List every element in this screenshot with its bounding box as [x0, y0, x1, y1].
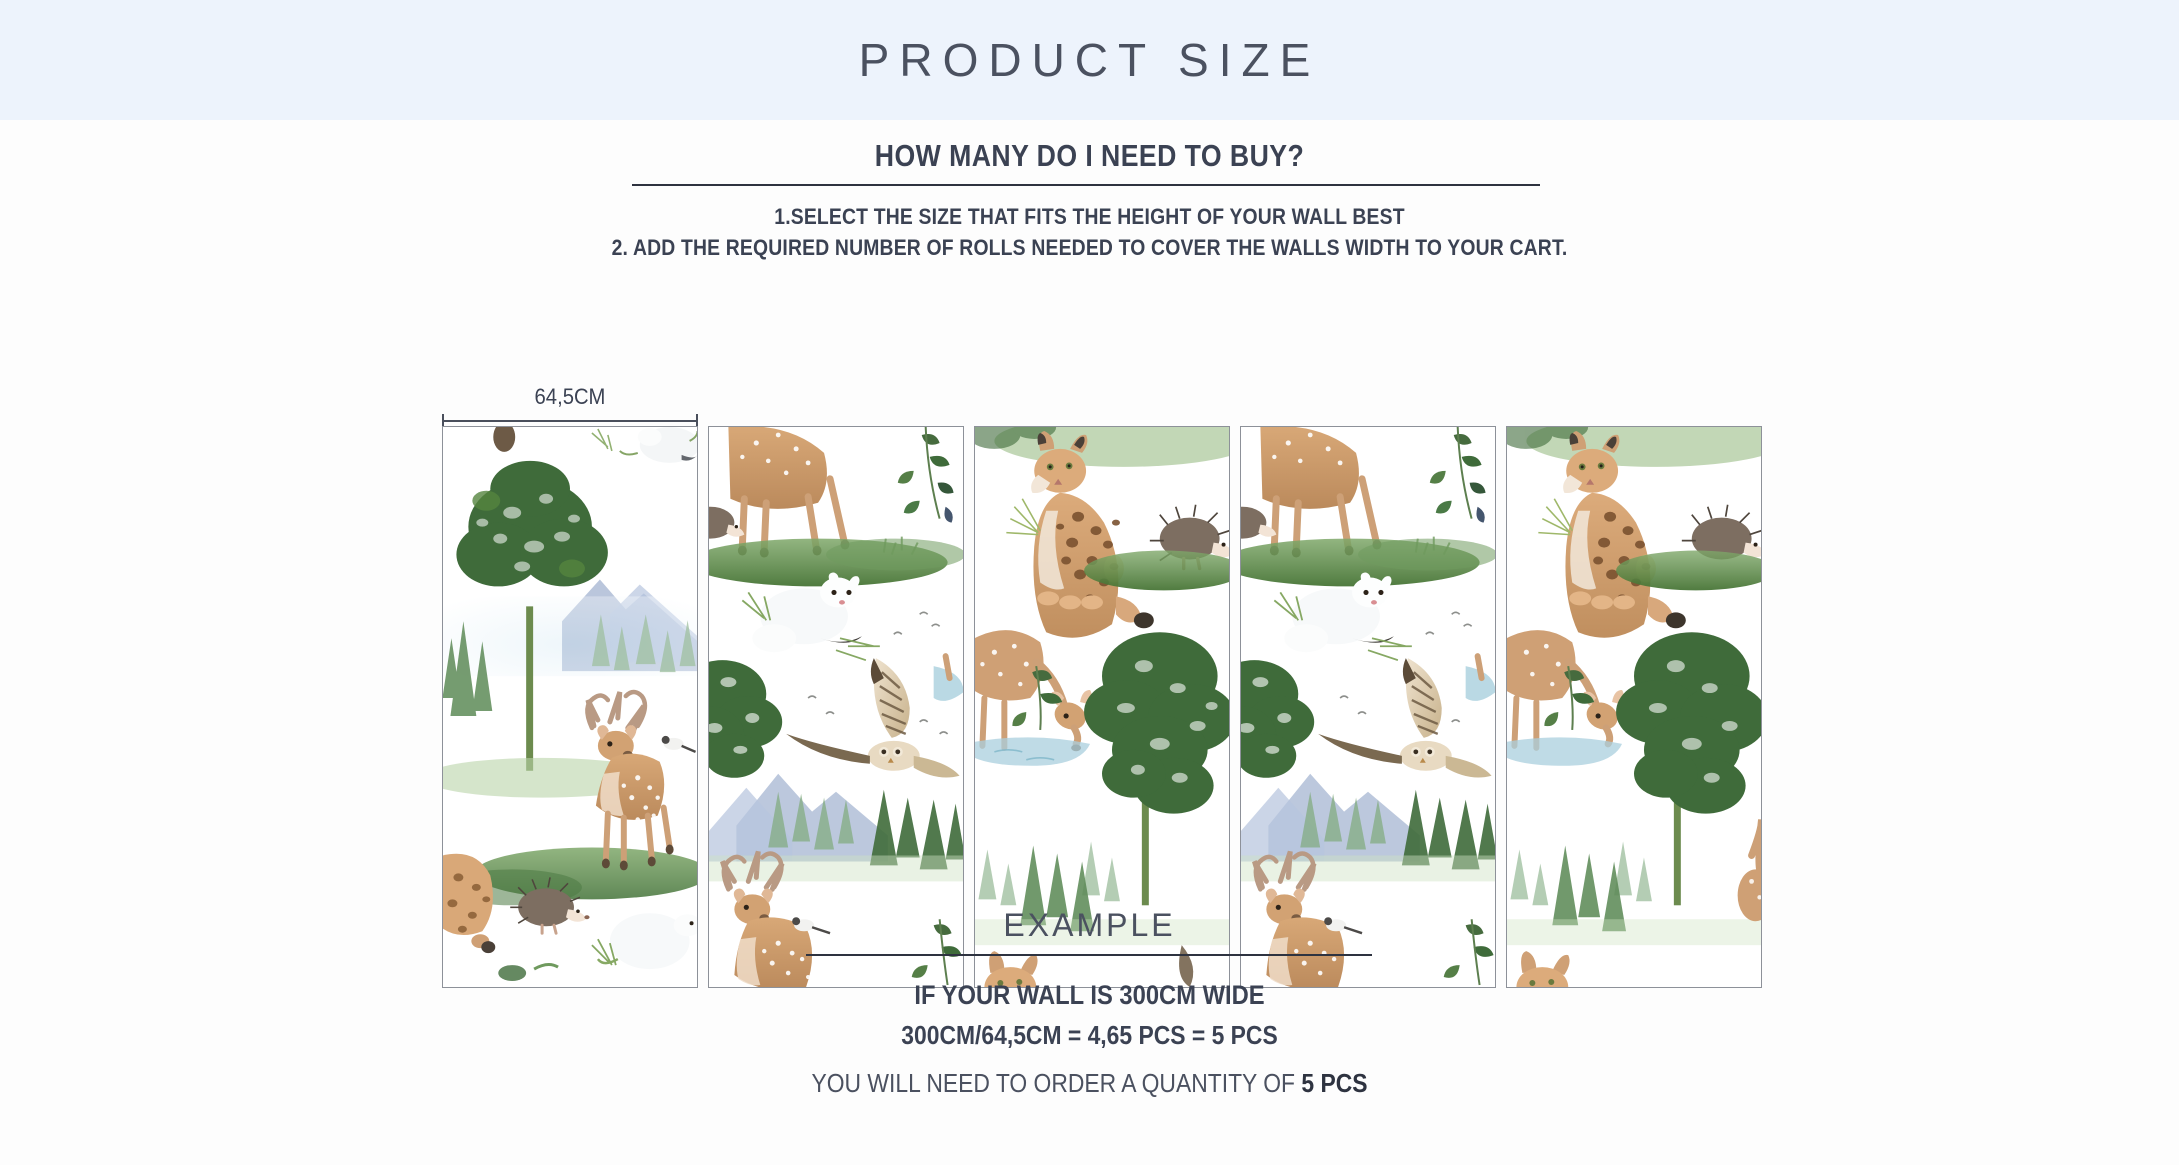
roll-panel-3[interactable]	[974, 426, 1230, 988]
woodland-pattern-b	[709, 427, 963, 987]
example-line-3-prefix: YOU WILL NEED TO ORDER A QUANTITY OF	[811, 1068, 1301, 1098]
instruction-step-2: 2. ADD THE REQUIRED NUMBER OF ROLLS NEED…	[131, 235, 2049, 261]
woodland-pattern-a	[443, 427, 697, 987]
heading-divider	[632, 184, 1540, 186]
page-title: PRODUCT SIZE	[859, 33, 1321, 87]
page-header: PRODUCT SIZE	[0, 0, 2179, 120]
example-line-1: IF YOUR WALL IS 300CM WIDE	[131, 980, 2049, 1011]
woodland-pattern-c-repeat	[1507, 427, 1761, 987]
dimension-line	[442, 420, 698, 422]
roll-panel-1[interactable]	[442, 426, 698, 988]
dimension-bracket	[442, 414, 698, 426]
instruction-step-1: 1.SELECT THE SIZE THAT FITS THE HEIGHT O…	[131, 204, 2049, 230]
woodland-pattern-b-repeat	[1241, 427, 1495, 987]
example-quantity-value: 5 PCS	[1301, 1068, 1367, 1098]
content-area: HOW MANY DO I NEED TO BUY? 1.SELECT THE …	[0, 120, 2179, 1165]
example-line-3: YOU WILL NEED TO ORDER A QUANTITY OF 5 P…	[131, 1068, 2049, 1099]
dimension-label: 64,5CM	[452, 384, 688, 410]
woodland-pattern-c	[975, 427, 1229, 987]
wallpaper-roll-group	[442, 426, 1762, 988]
roll-panel-4[interactable]	[1240, 426, 1496, 988]
example-divider	[806, 954, 1372, 956]
section-subheading: HOW MANY DO I NEED TO BUY?	[153, 138, 2027, 174]
roll-panel-5[interactable]	[1506, 426, 1762, 988]
example-line-2: 300CM/64,5CM = 4,65 PCS = 5 PCS	[131, 1020, 2049, 1051]
roll-panel-2[interactable]	[708, 426, 964, 988]
example-heading: EXAMPLE	[0, 907, 2179, 944]
